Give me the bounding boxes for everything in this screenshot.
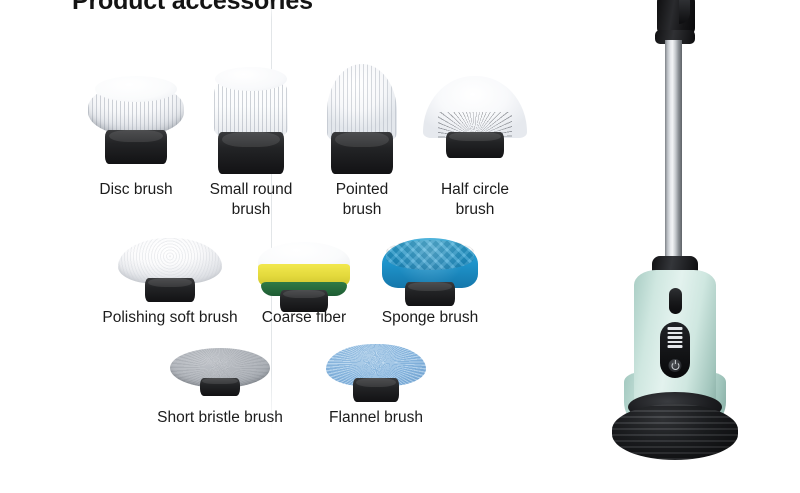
- accessory-disc-brush[interactable]: Disc brush: [76, 84, 196, 204]
- coarse-fiber-figure: [248, 242, 360, 308]
- disc-brush-label: Disc brush: [66, 180, 206, 200]
- sponge-brush-label: Sponge brush: [360, 308, 500, 328]
- short-bristle-brush-hub: [200, 378, 240, 396]
- speed-switch[interactable]: [669, 288, 682, 314]
- pointed-brush-figure: [310, 64, 414, 180]
- small-round-brush-hub: [218, 132, 284, 174]
- battery-bar: [668, 345, 683, 348]
- half-circle-brush-bristles: [423, 76, 527, 138]
- sponge-brush-figure: [372, 238, 488, 308]
- battery-indicator: [668, 327, 683, 348]
- pointed-brush-bristles: [327, 64, 397, 142]
- battery-bar: [668, 327, 683, 330]
- flannel-brush-figure: [318, 344, 434, 408]
- product-accessories-infographic: Product accessories Disc brush Small rou…: [0, 0, 800, 493]
- accessory-sponge-brush[interactable]: Sponge brush: [372, 238, 488, 340]
- control-panel[interactable]: [660, 322, 690, 378]
- accessory-polishing-soft-brush[interactable]: Polishing soft brush: [106, 238, 234, 338]
- battery-bar: [668, 332, 683, 335]
- half-circle-brush-figure: [416, 76, 534, 180]
- polishing-soft-brush-figure: [106, 238, 234, 308]
- power-button-icon[interactable]: [669, 359, 682, 372]
- small-round-brush-label: Small round brush: [186, 180, 316, 220]
- sponge-brush-pad: [382, 238, 478, 288]
- battery-bar: [668, 336, 683, 339]
- disc-brush-top-face: [95, 76, 177, 102]
- disc-brush-hub: [105, 130, 167, 164]
- flannel-brush-label: Flannel brush: [301, 408, 451, 428]
- accessory-flannel-brush[interactable]: Flannel brush: [318, 344, 434, 444]
- sponge-brush-hub: [405, 282, 455, 306]
- coarse-fiber-label: Coarse fiber: [239, 308, 369, 328]
- flannel-brush-hub: [353, 378, 399, 402]
- short-bristle-brush-figure: [162, 348, 278, 408]
- accessory-coarse-fiber[interactable]: Coarse fiber: [248, 242, 360, 340]
- small-round-brush-figure: [196, 74, 306, 180]
- extension-pole: [665, 40, 682, 266]
- half-circle-brush-label: Half circle brush: [410, 180, 540, 220]
- polishing-soft-brush-label: Polishing soft brush: [85, 308, 255, 328]
- page-title: Product accessories: [72, 0, 313, 16]
- half-circle-brush-hub: [446, 132, 504, 158]
- brush-mount-base: [612, 404, 738, 460]
- short-bristle-brush-label: Short bristle brush: [135, 408, 305, 428]
- accessory-small-round-brush[interactable]: Small round brush: [196, 74, 306, 204]
- pointed-brush-hub: [331, 132, 393, 174]
- small-round-brush-top-face: [215, 67, 287, 91]
- battery-bar: [668, 341, 683, 344]
- pointed-brush-label: Pointed brush: [302, 180, 422, 220]
- accessory-half-circle-brush[interactable]: Half circle brush: [416, 76, 534, 204]
- accessory-pointed-brush[interactable]: Pointed brush: [310, 64, 414, 204]
- accessory-short-bristle-brush[interactable]: Short bristle brush: [162, 348, 278, 444]
- polishing-soft-brush-hub: [145, 278, 195, 302]
- disc-brush-figure: [76, 84, 196, 180]
